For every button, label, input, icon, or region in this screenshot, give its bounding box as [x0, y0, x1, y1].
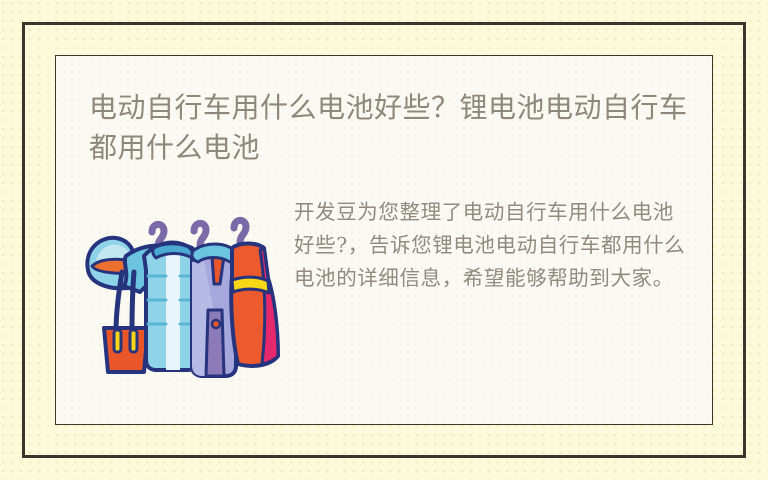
handbag-body: [104, 328, 148, 372]
dress-belt: [232, 277, 269, 293]
poster-canvas: 电动自行车用什么电池好些？锂电池电动自行车都用什么电池: [0, 0, 768, 480]
article-card: 电动自行车用什么电池好些？锂电池电动自行车都用什么电池: [55, 55, 713, 425]
content-row: 开发豆为您整理了电动自行车用什么电池好些?，告诉您锂电池电动自行车都用什么电池的…: [56, 196, 712, 390]
article-summary: 开发豆为您整理了电动自行车用什么电池好些?，告诉您锂电池电动自行车都用什么电池的…: [294, 196, 712, 296]
page-title: 电动自行车用什么电池好些？锂电池电动自行车都用什么电池: [89, 88, 689, 168]
outer-frame-border: 电动自行车用什么电池好些？锂电池电动自行车都用什么电池: [22, 22, 746, 458]
clothes-on-hangers-icon: [74, 200, 294, 390]
